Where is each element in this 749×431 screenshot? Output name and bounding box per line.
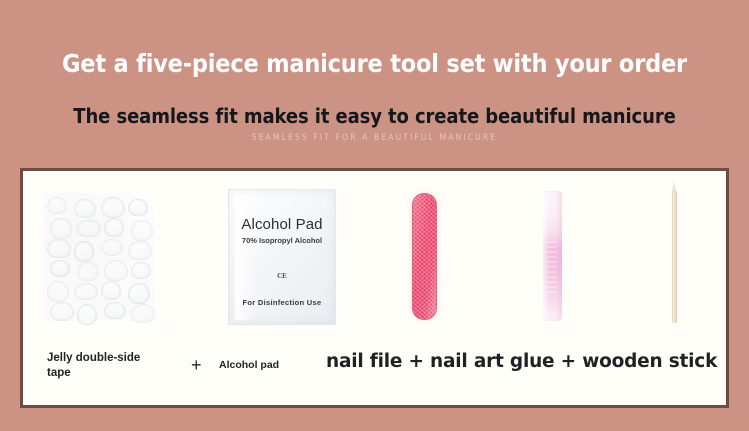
jelly-tape-tab [104,260,128,281]
jelly-tape-tab [77,220,101,237]
product-captions: Jelly double-side tape + Alcohol pad nai… [23,343,726,405]
sachet-title: Alcohol Pad [229,216,335,233]
wooden-stick-icon [672,191,677,323]
jelly-tape-tab [77,262,99,281]
banner-microcopy: SEAMLESS FIT FOR A BEAUTIFUL MANICURE [0,132,749,144]
nail-file-icon [412,193,437,320]
jelly-tape-tab [74,241,94,262]
sachet-footer: For Disinfection Use [229,298,335,307]
jelly-tape-tab [101,281,121,300]
jelly-tape-tab [74,199,96,218]
nail-glue-tube-icon [543,191,562,321]
jelly-tape-tab [131,220,153,241]
jelly-tape-tab [131,262,151,279]
product-nail-art-glue [493,171,618,343]
banner-headline: Get a five-piece manicure tool set with … [0,49,749,79]
jelly-tape-tab [131,304,155,323]
jelly-tape-tab [101,197,125,218]
product-panel: Alcohol Pad 70% Isopropyl Alcohol CE For… [20,168,729,408]
banner-subheadline: The seamless fit makes it easy to create… [0,104,749,128]
jelly-tape-tab [128,241,152,260]
sachet-ce-mark: CE [229,272,335,280]
caption-right-group: nail file + nail art glue + wooden stick [326,351,717,372]
product-nail-file [373,171,493,343]
jelly-tape-tab [74,283,98,300]
product-row: Alcohol Pad 70% Isopropyl Alcohol CE For… [23,171,726,343]
jelly-tape-tab [77,304,97,325]
caption-plus-separator: + [191,355,202,376]
jelly-tape-tab [50,218,72,239]
jelly-tape-tab [128,283,150,304]
caption-jelly-tape: Jelly double-side tape [47,351,165,381]
jelly-tape-tab [47,197,67,214]
jelly-tape-tab [104,302,126,319]
jelly-tape-tab [128,199,148,216]
product-alcohol-pad: Alcohol Pad 70% Isopropyl Alcohol CE For… [198,171,363,343]
jelly-tape-tab [101,239,123,256]
jelly-tape-tab [47,281,69,302]
product-wooden-stick [618,171,728,343]
promo-banner: Get a five-piece manicure tool set with … [0,0,749,431]
caption-alcohol-pad: Alcohol pad [219,359,279,371]
jelly-tape-sheet-icon [43,193,155,321]
sachet-subtitle: 70% Isopropyl Alcohol [229,236,335,245]
jelly-tape-tab [50,302,74,321]
jelly-tape-tab [104,218,124,237]
product-jelly-double-side-tape [31,171,171,343]
alcohol-pad-sachet-icon: Alcohol Pad 70% Isopropyl Alcohol CE For… [228,189,336,325]
jelly-tape-tab [50,260,70,277]
jelly-tape-tab [47,239,71,258]
